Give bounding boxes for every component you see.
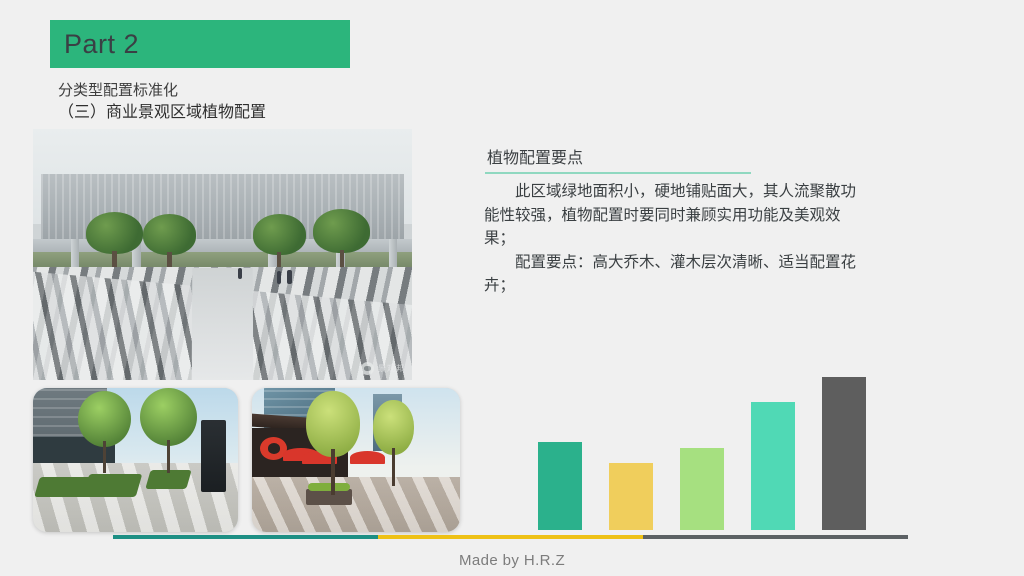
commercial-street-photo xyxy=(252,388,460,532)
sub-tree xyxy=(78,391,131,472)
footer-rule-teal xyxy=(113,535,378,539)
watermark-label: 景观邦 xyxy=(378,363,405,374)
chart-bar xyxy=(822,377,866,530)
panel-body: 此区域绿地面积小，硬地铺贴面大，其人流聚散功能性较强，植物配置时要同时兼顾实用功… xyxy=(484,180,866,298)
photo-walkway xyxy=(192,268,253,380)
plaza-paving-photo: 景观邦 xyxy=(33,129,412,380)
street-hedge-photo xyxy=(33,388,238,532)
part-label: Part 2 xyxy=(50,29,139,60)
sub-hedge xyxy=(83,474,143,497)
sub-tree xyxy=(306,391,360,492)
wechat-icon xyxy=(361,362,374,375)
subtitle-line-2: （三）商业景观区域植物配置 xyxy=(58,101,266,124)
photo-person xyxy=(277,271,281,284)
made-by-label: Made by H.R.Z xyxy=(0,552,1024,569)
panel-heading: 植物配置要点 xyxy=(487,144,583,168)
chart-bar xyxy=(751,402,795,530)
chart-bar xyxy=(538,442,582,530)
slide-canvas: Part 2 分类型配置标准化 （三）商业景观区域植物配置 xyxy=(0,0,1024,576)
panel-paragraph: 配置要点：高大乔木、灌木层次清晰、适当配置花卉； xyxy=(484,251,866,298)
footer-rule-yellow xyxy=(378,535,643,539)
part-banner: Part 2 xyxy=(50,20,350,68)
sub-signage xyxy=(201,420,226,492)
panel-heading-rule xyxy=(485,172,751,174)
sub-tree xyxy=(140,388,197,472)
sub-tree xyxy=(373,400,415,484)
bar-chart xyxy=(520,355,920,530)
photo-person xyxy=(287,270,292,284)
footer-rule-gray xyxy=(643,535,908,539)
chart-bar xyxy=(680,448,724,530)
photo-person xyxy=(238,268,242,279)
photo-watermark: 景观邦 xyxy=(361,362,405,375)
subtitle-line-1: 分类型配置标准化 xyxy=(58,80,178,102)
chart-bar xyxy=(609,463,653,530)
panel-paragraph: 此区域绿地面积小，硬地铺贴面大，其人流聚散功能性较强，植物配置时要同时兼顾实用功… xyxy=(484,180,866,251)
